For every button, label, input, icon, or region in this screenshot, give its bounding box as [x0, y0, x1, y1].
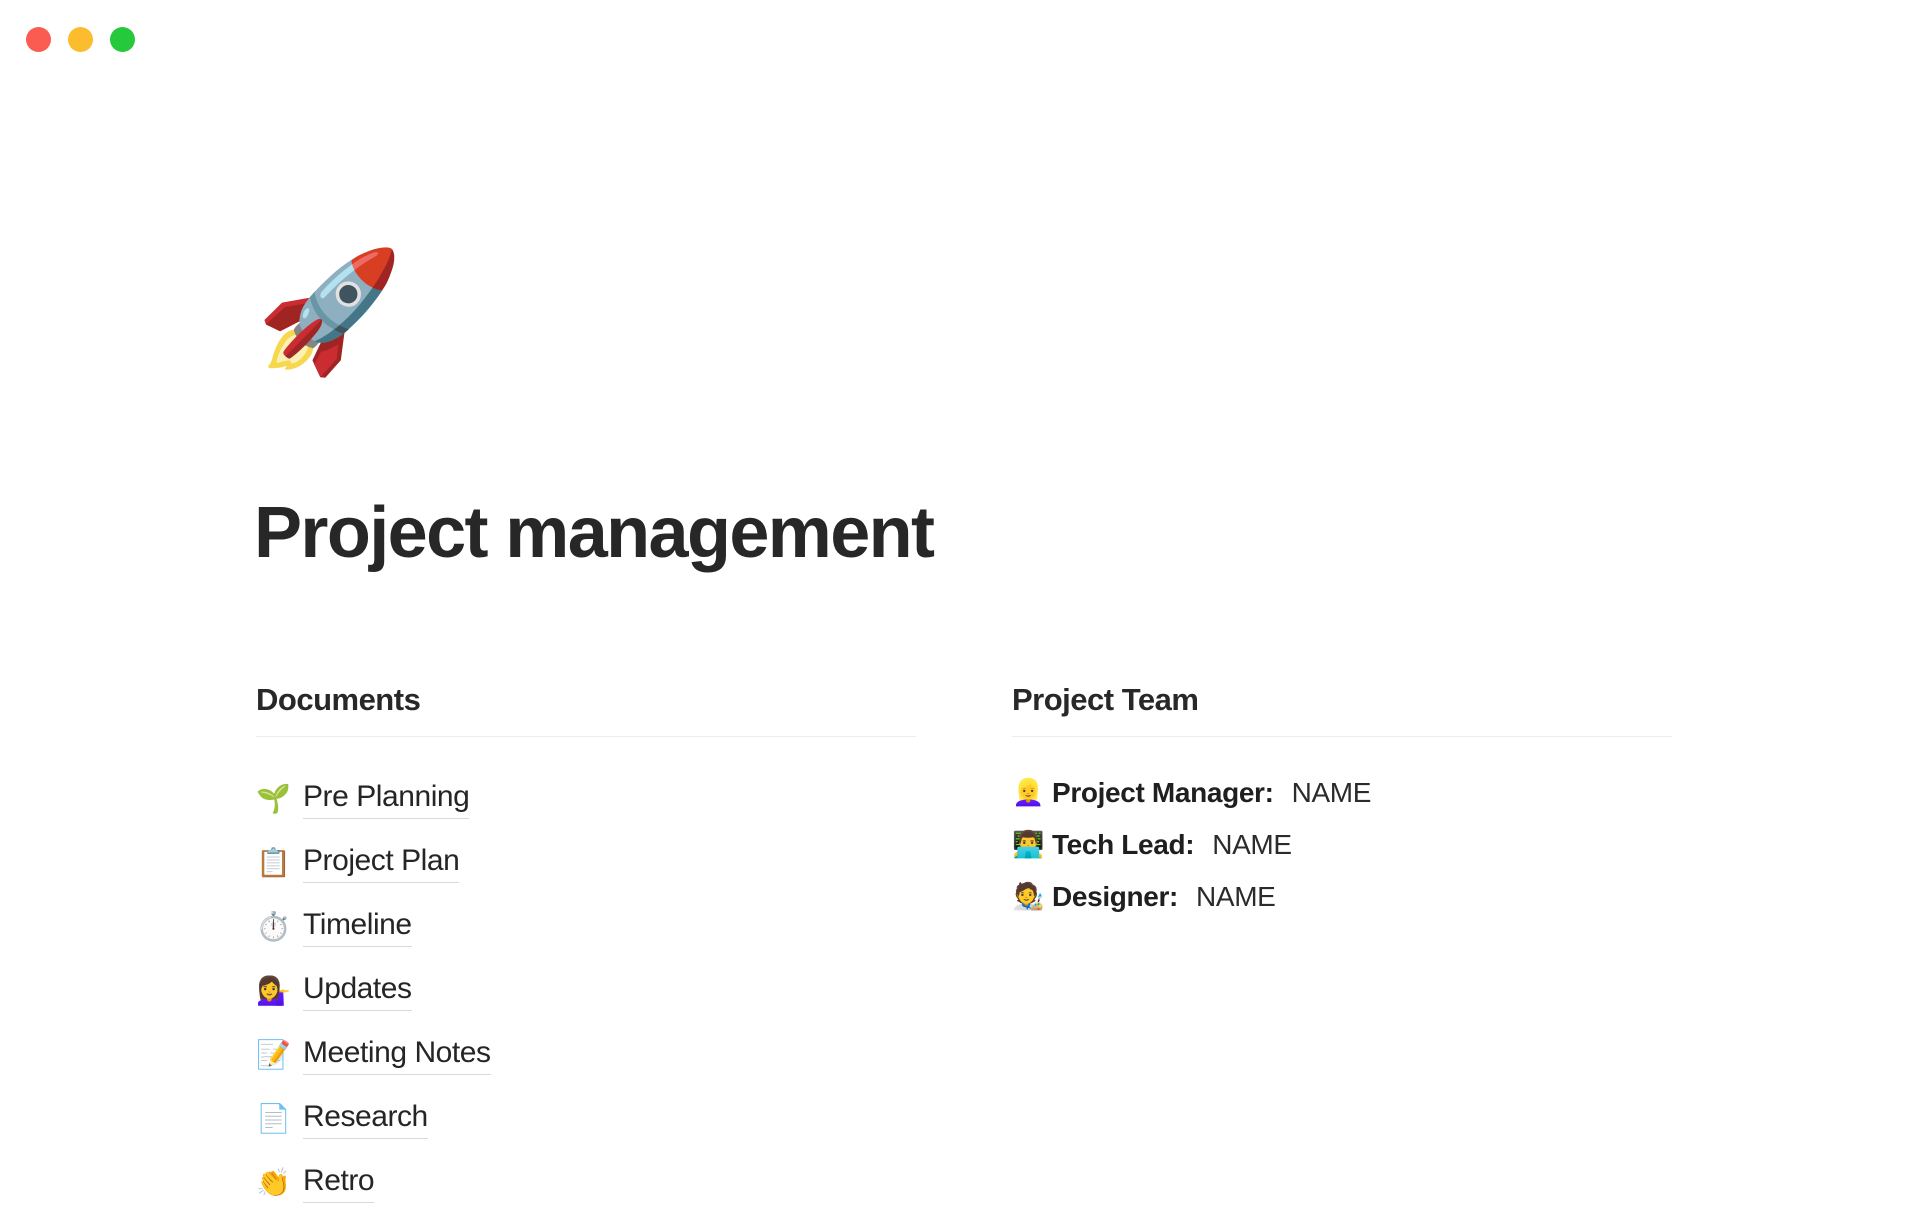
list-item[interactable]: ⏱️ Timeline — [256, 895, 916, 959]
document-link-pre-planning[interactable]: Pre Planning — [303, 779, 469, 819]
document-link-timeline[interactable]: Timeline — [303, 907, 412, 947]
page-content: 🚀 Project management Documents 🌱 Pre Pla… — [0, 0, 1920, 1200]
clap-icon: 👏 — [256, 1169, 290, 1197]
team-member-name: NAME — [1292, 777, 1372, 809]
document-link-meeting-notes[interactable]: Meeting Notes — [303, 1035, 491, 1075]
list-item: 👨‍💻 Tech Lead: NAME — [1012, 819, 1672, 871]
document-icon: 📄 — [256, 1105, 290, 1133]
document-link-retro[interactable]: Retro — [303, 1163, 374, 1203]
list-item[interactable]: 💁‍♀️ Updates — [256, 959, 916, 1023]
notepad-icon: 📋 — [256, 849, 290, 877]
team-list: 👱‍♀️ Project Manager: NAME 👨‍💻 Tech Lead… — [1012, 767, 1672, 923]
list-item: 👱‍♀️ Project Manager: NAME — [1012, 767, 1672, 819]
project-team-heading: Project Team — [1012, 680, 1672, 720]
team-member-name: NAME — [1196, 881, 1276, 913]
team-role-project-manager: Project Manager: — [1052, 777, 1274, 809]
document-link-research[interactable]: Research — [303, 1099, 428, 1139]
page-title[interactable]: Project management — [254, 492, 933, 575]
technologist-icon: 👨‍💻 — [1012, 832, 1042, 858]
blond-woman-icon: 👱‍♀️ — [1012, 780, 1042, 806]
stopwatch-icon: ⏱️ — [256, 913, 290, 941]
team-role-designer: Designer: — [1052, 881, 1178, 913]
team-member-name: NAME — [1212, 829, 1292, 861]
project-team-divider — [1012, 736, 1672, 737]
woman-icon: 💁‍♀️ — [256, 977, 290, 1005]
team-role-tech-lead: Tech Lead: — [1052, 829, 1194, 861]
list-item[interactable]: 👏 Retro — [256, 1151, 916, 1215]
project-team-section: Project Team 👱‍♀️ Project Manager: NAME … — [1012, 680, 1672, 1215]
document-link-updates[interactable]: Updates — [303, 971, 412, 1011]
seedling-icon: 🌱 — [256, 785, 290, 813]
memo-icon: 📝 — [256, 1041, 290, 1069]
list-item[interactable]: 📝 Meeting Notes — [256, 1023, 916, 1087]
list-item[interactable]: 🌱 Pre Planning — [256, 767, 916, 831]
artist-icon: 🧑‍🎨 — [1012, 884, 1042, 910]
list-item[interactable]: 📋 Project Plan — [256, 831, 916, 895]
content-columns: Documents 🌱 Pre Planning 📋 Project Plan … — [256, 680, 1676, 1215]
document-link-project-plan[interactable]: Project Plan — [303, 843, 459, 883]
list-item: 🧑‍🎨 Designer: NAME — [1012, 871, 1672, 923]
documents-list: 🌱 Pre Planning 📋 Project Plan ⏱️ Timelin… — [256, 767, 916, 1215]
list-item[interactable]: 📄 Research — [256, 1087, 916, 1151]
rocket-icon[interactable]: 🚀 — [256, 252, 403, 370]
documents-section: Documents 🌱 Pre Planning 📋 Project Plan … — [256, 680, 916, 1215]
documents-heading: Documents — [256, 680, 916, 720]
documents-divider — [256, 736, 916, 737]
